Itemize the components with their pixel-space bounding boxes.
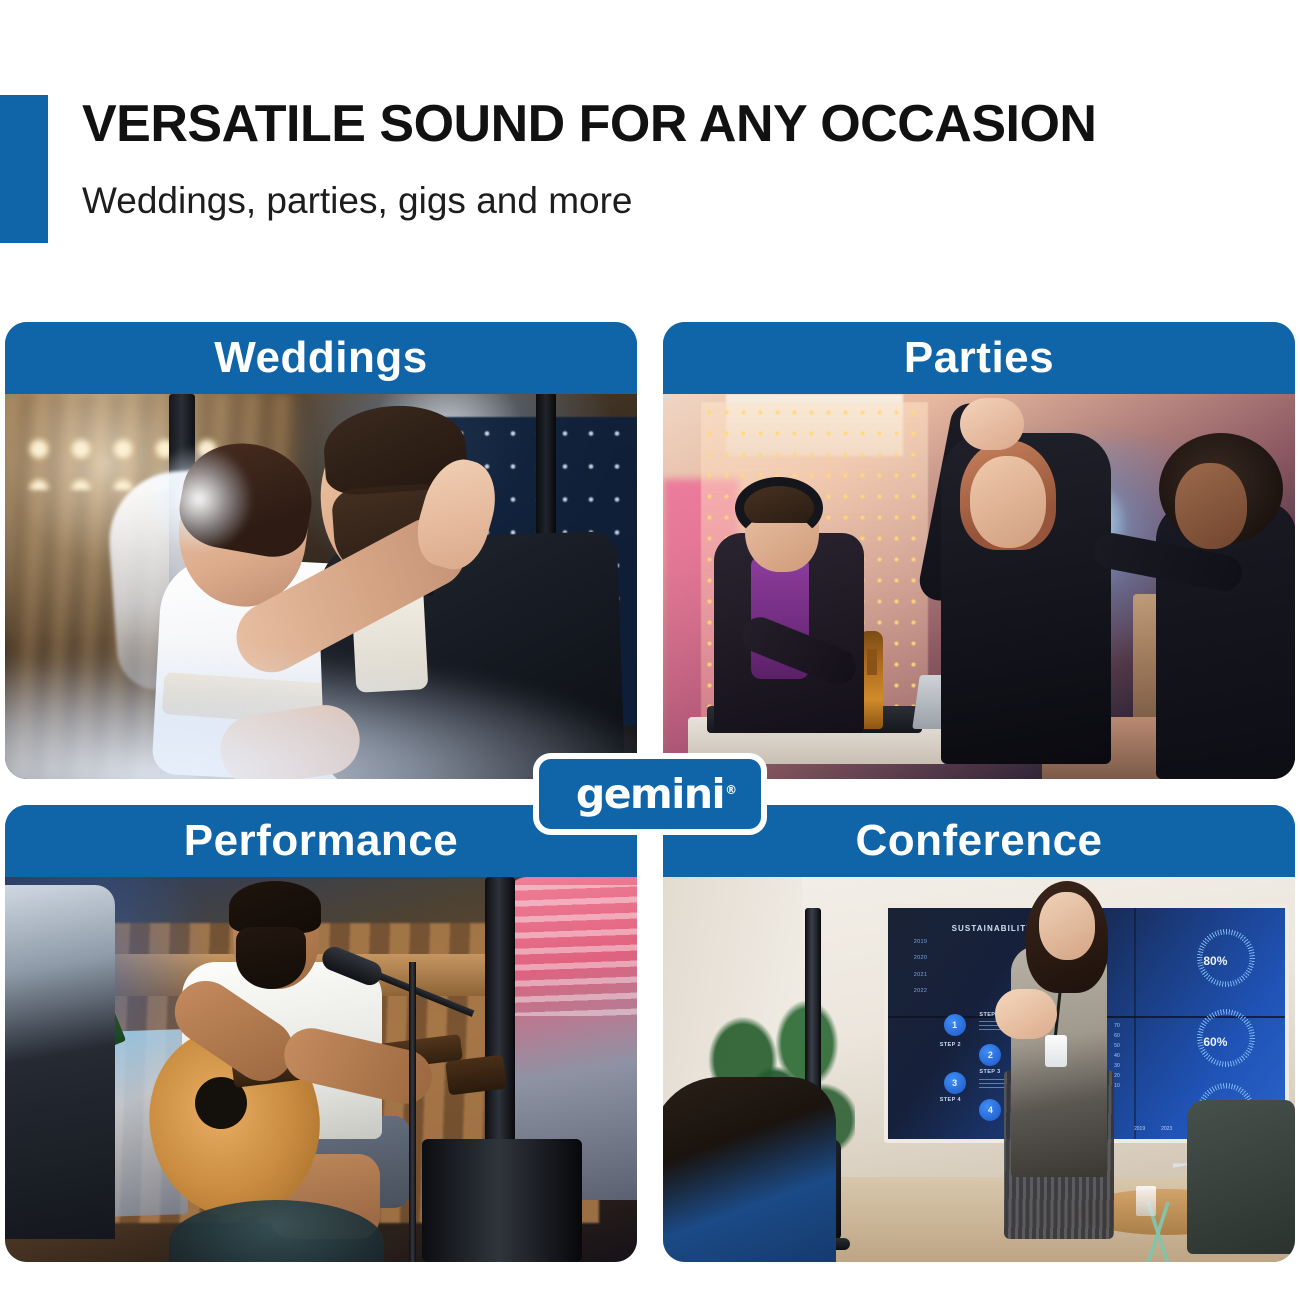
photo-weddings: [5, 394, 637, 779]
gemini-logo-badge[interactable]: gemini ®: [533, 753, 767, 835]
card-title-parties: Parties: [904, 334, 1054, 382]
page-subtitle: Weddings, parties, gigs and more: [82, 179, 633, 223]
step-label-3: STEP 3: [979, 1069, 1000, 1075]
page-title: VERSATILE SOUND FOR ANY OCCASION: [82, 95, 1096, 153]
step-number-3: 3: [944, 1072, 966, 1094]
guitarist-hair: [229, 881, 321, 933]
y-tick: 40: [1114, 1053, 1120, 1059]
screen-y-axis: 70 60 50 40 30 20 10: [1114, 1023, 1120, 1089]
id-badge: [1045, 1035, 1067, 1067]
speaker-subwoofer: [422, 1139, 582, 1262]
x-tick: 2019: [1134, 1126, 1145, 1132]
accent-bar: [0, 95, 48, 243]
photo-performance: [5, 877, 637, 1262]
card-header-weddings: Weddings: [5, 322, 637, 394]
card-performance[interactable]: Performance: [5, 805, 637, 1262]
step-label-2: STEP 2: [940, 1042, 961, 1048]
guitar-headstock: [446, 1055, 508, 1096]
striped-shirt: [507, 885, 637, 1016]
card-title-conference: Conference: [855, 817, 1102, 865]
dancer-face: [970, 456, 1046, 548]
dot-row-year: 2020: [914, 955, 927, 961]
beer-bottle-neck: [867, 649, 877, 675]
dot-row-year: 2019: [914, 939, 927, 945]
dot-row-year: 2022: [914, 988, 927, 994]
photo-parties: [663, 394, 1295, 779]
y-tick: 10: [1114, 1083, 1120, 1089]
performance-scene: [5, 877, 637, 1262]
card-title-performance: Performance: [184, 817, 459, 865]
gemini-wordmark: gemini ®: [576, 774, 724, 815]
y-tick: 50: [1114, 1043, 1120, 1049]
headphones-icon: [735, 477, 823, 539]
y-tick: 30: [1114, 1063, 1120, 1069]
mic-stand: [409, 962, 416, 1262]
step-number-1: 1: [944, 1014, 966, 1036]
second-dancer-face: [1175, 463, 1247, 549]
progress-ring-label-60: 60%: [1203, 1035, 1227, 1049]
guitarist-beard: [236, 927, 306, 989]
screen-seam-vertical: [1134, 908, 1136, 1139]
card-parties[interactable]: Parties: [663, 322, 1295, 779]
foreground-attendee: [663, 1077, 836, 1262]
infographic-page: VERSATILE SOUND FOR ANY OCCASION Wedding…: [0, 0, 1300, 1300]
speaker-column: [485, 877, 515, 1154]
wedding-scene: [5, 394, 637, 779]
y-tick: 70: [1114, 1023, 1120, 1029]
presenter-face: [1039, 892, 1095, 960]
dot-row-year: 2021: [914, 972, 927, 978]
presenter-hands: [995, 989, 1057, 1039]
step-number-2: 2: [979, 1044, 1001, 1066]
dancer-raised-hands: [960, 398, 1024, 450]
registered-trademark-icon: ®: [725, 770, 737, 811]
screen-heading: SUSTAINABILITY: [952, 924, 1033, 933]
water-glass: [1136, 1186, 1156, 1216]
y-tick: 60: [1114, 1033, 1120, 1039]
lens-flare: [144, 444, 254, 554]
step-number-4: 4: [979, 1099, 1001, 1121]
card-conference[interactable]: Conference SUSTAINABILITY 2019: [663, 805, 1295, 1262]
x-tick: 2023: [1161, 1126, 1172, 1132]
card-weddings[interactable]: Weddings: [5, 322, 637, 779]
photo-conference: SUSTAINABILITY 2019 2020 2021: [663, 877, 1295, 1262]
party-scene: [663, 394, 1295, 779]
bystander-left: [5, 885, 115, 1239]
y-tick: 20: [1114, 1073, 1120, 1079]
armchair: [1187, 1100, 1295, 1254]
progress-ring-label-80: 80%: [1203, 954, 1227, 968]
conference-scene: SUSTAINABILITY 2019 2020 2021: [663, 877, 1295, 1262]
step-label-4: STEP 4: [940, 1097, 961, 1103]
header: VERSATILE SOUND FOR ANY OCCASION Wedding…: [0, 95, 1300, 243]
card-header-parties: Parties: [663, 322, 1295, 394]
card-title-weddings: Weddings: [214, 334, 427, 382]
